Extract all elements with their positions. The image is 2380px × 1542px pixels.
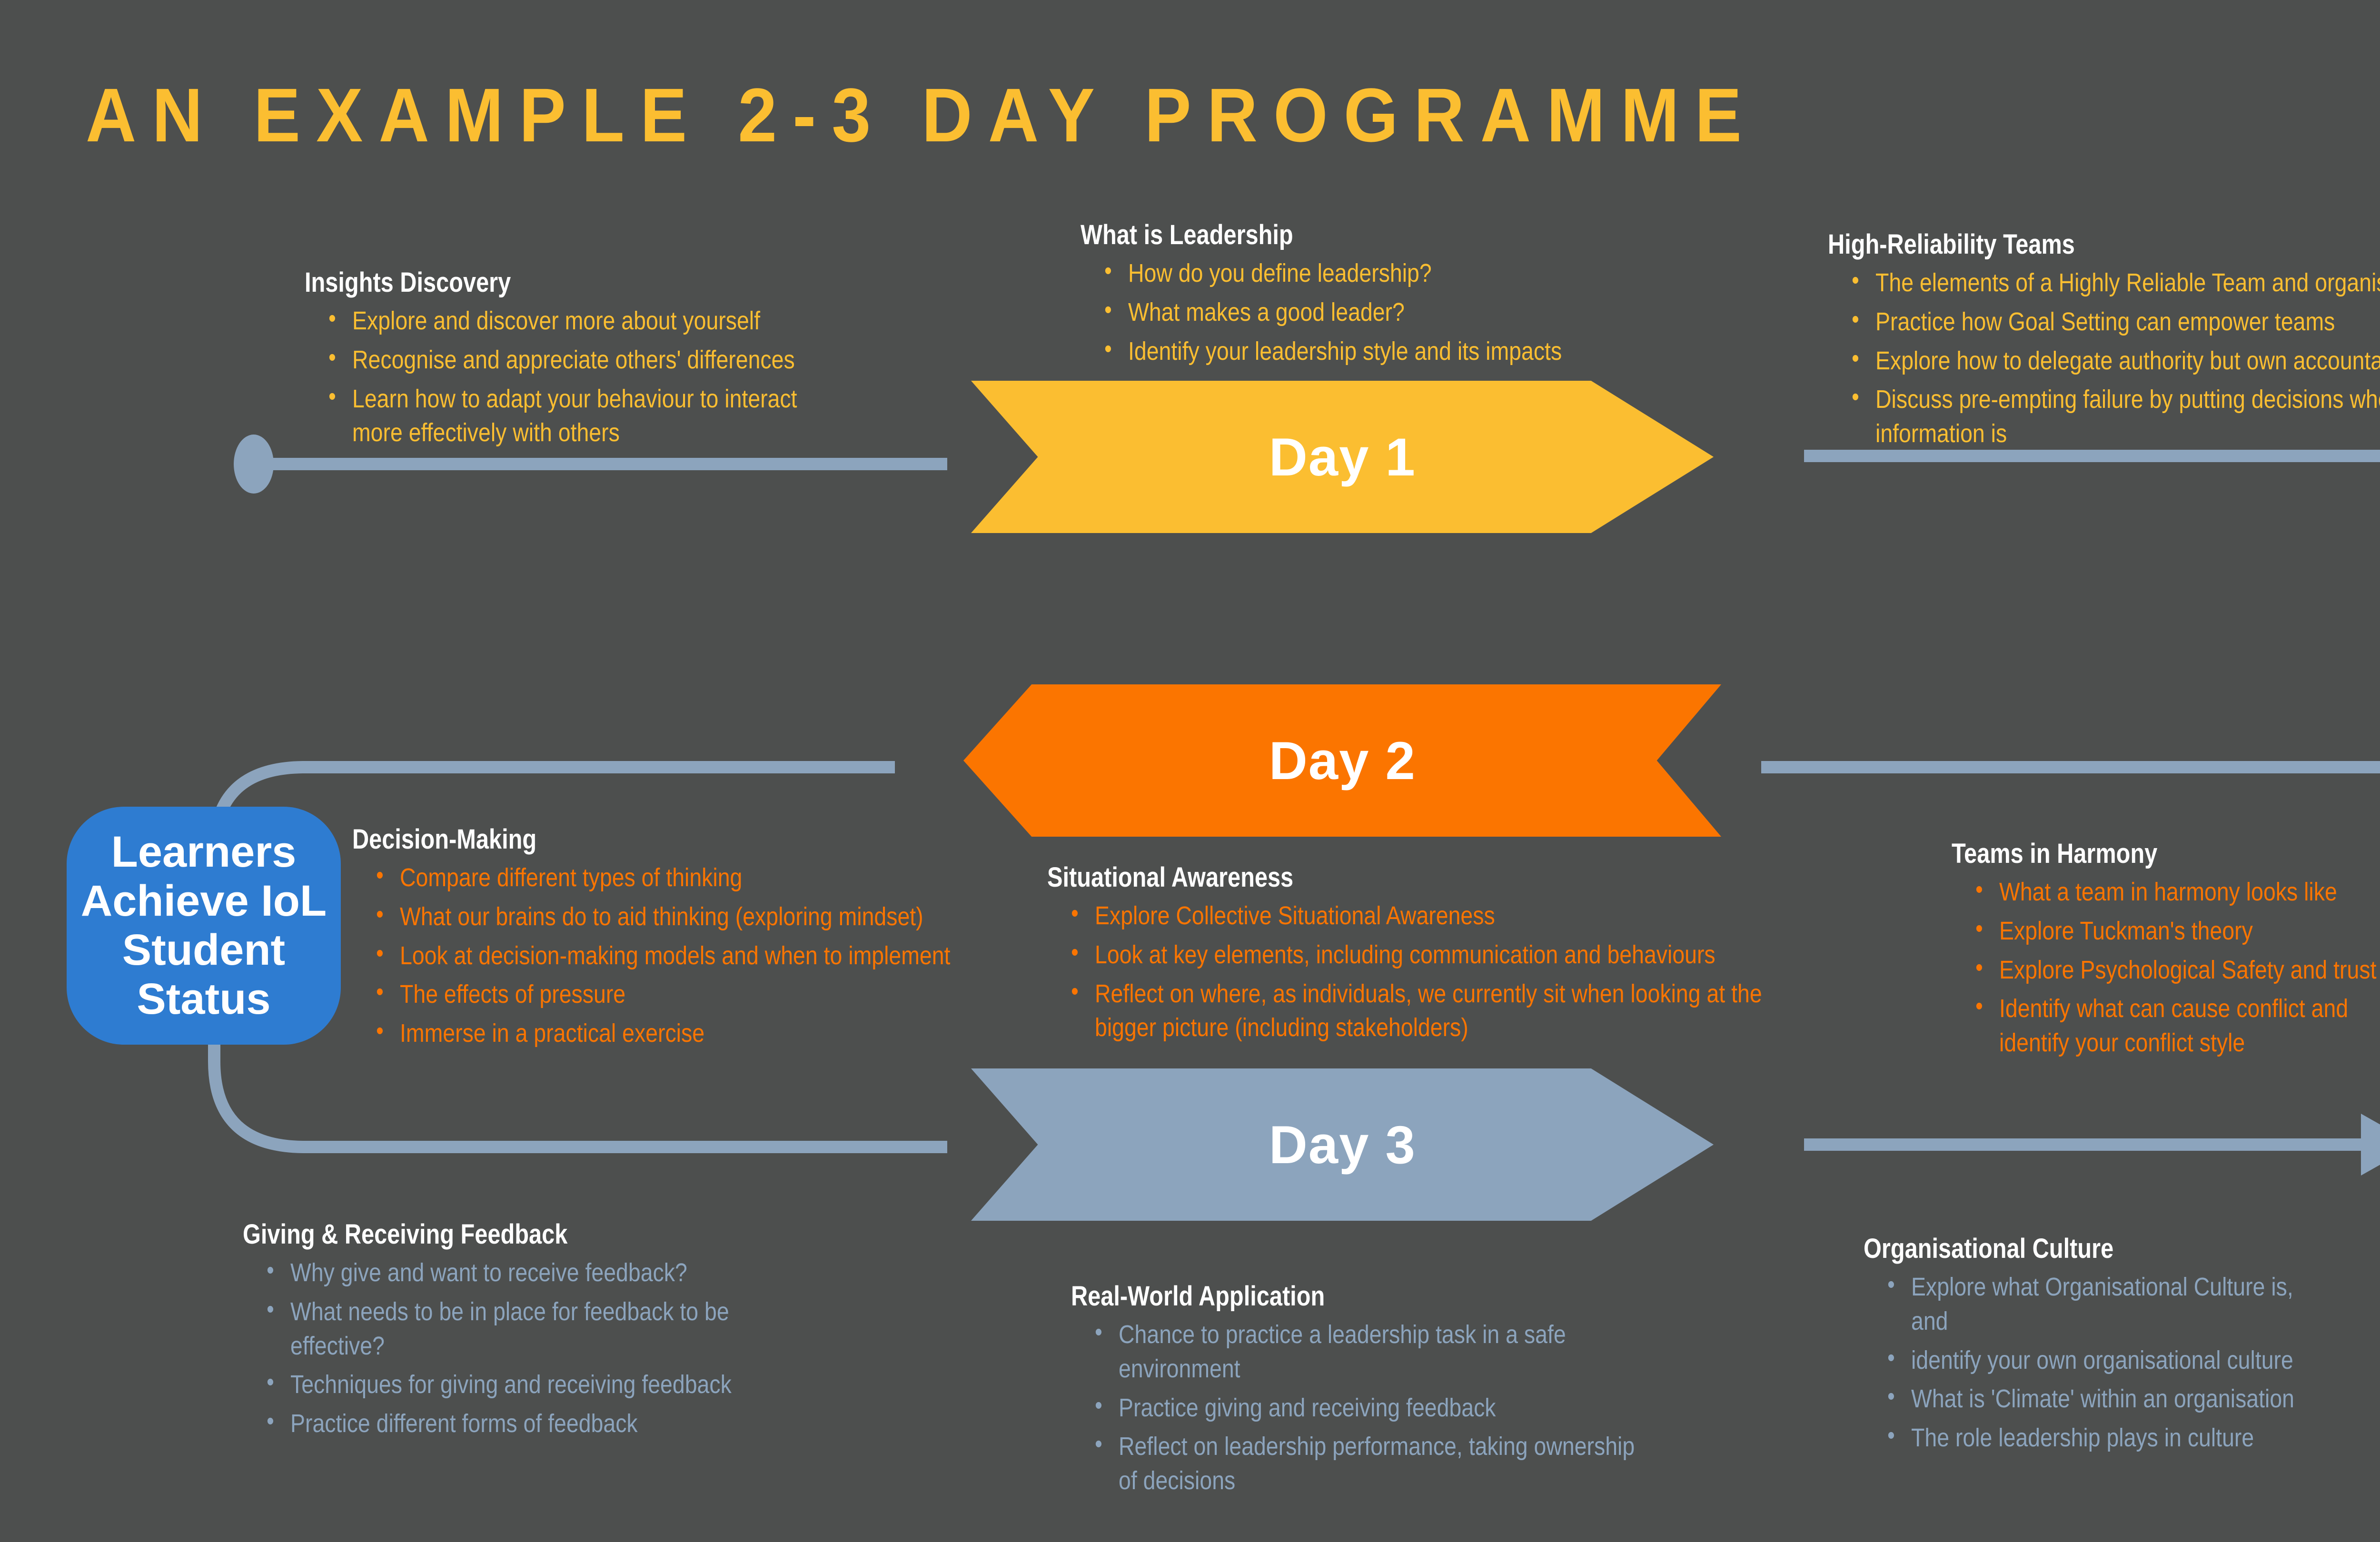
- topic-situational-awareness: Situational Awareness Explore Collective…: [1047, 861, 1899, 1050]
- topic-bullet-item: What is 'Climate' within an organisation: [1911, 1382, 2316, 1416]
- topic-what-is-leadership: What is Leadership How do you define lea…: [1081, 219, 1699, 373]
- topic-decision-making: Decision-Making Compare different types …: [352, 823, 1057, 1056]
- day-3-label: Day 3: [1269, 1114, 1416, 1176]
- wire-day1-to-day2: [1761, 456, 2380, 767]
- topic-bullet-item: Explore how to delegate authority but ow…: [1875, 344, 2380, 378]
- topic-bullet-item: Why give and want to receive feedback?: [290, 1256, 777, 1290]
- topic-heading: High-Reliability Teams: [1828, 228, 2380, 260]
- topic-teams-in-harmony: Teams in Harmony What a team in harmony …: [1952, 838, 2380, 1065]
- topic-heading: Giving & Receiving Feedback: [243, 1218, 759, 1250]
- topic-bullet-item: What makes a good leader?: [1128, 296, 1619, 330]
- day-1-label: Day 1: [1269, 426, 1416, 488]
- topic-bullets: How do you define leadership?What makes …: [1081, 257, 1699, 368]
- topic-bullet-item: Chance to practice a leadership task in …: [1119, 1318, 1651, 1386]
- topic-bullet-item: Practice giving and receiving feedback: [1119, 1391, 1651, 1425]
- page-title: AN EXAMPLE 2-3 DAY PROGRAMME: [86, 71, 1757, 159]
- arrowhead-icon: [2361, 1114, 2380, 1176]
- topic-bullets: The elements of a Highly Reliable Team a…: [1828, 266, 2380, 451]
- topic-high-reliability-teams: High-Reliability Teams The elements of a…: [1828, 228, 2380, 456]
- topic-bullets: What a team in harmony looks likeExplore…: [1952, 875, 2380, 1060]
- topic-bullets: Why give and want to receive feedback?Wh…: [243, 1256, 857, 1441]
- topic-bullet-item: Explore Collective Situational Awareness: [1095, 899, 1786, 933]
- topic-bullet-item: identify your own organisational culture: [1911, 1344, 2316, 1378]
- topic-heading: Situational Awareness: [1047, 861, 1763, 893]
- topic-real-world-application: Real-World Application Chance to practic…: [1071, 1280, 1737, 1503]
- topic-bullet-item: Discuss pre-empting failure by putting d…: [1875, 383, 2380, 451]
- day-2-band: Day 2: [963, 684, 1721, 837]
- topic-bullet-item: What a team in harmony looks like: [1999, 875, 2380, 909]
- day-3-band: Day 3: [971, 1068, 1714, 1221]
- day-1-band: Day 1: [971, 381, 1714, 533]
- topic-bullet-item: Explore and discover more about yourself: [352, 304, 835, 338]
- topic-heading: Insights Discovery: [305, 267, 816, 298]
- topic-bullet-item: Reflect on leadership performance, takin…: [1119, 1430, 1651, 1498]
- topic-heading: Real-World Application: [1071, 1280, 1631, 1312]
- topic-bullet-item: Compare different types of thinking: [400, 861, 965, 895]
- topic-bullet-item: Practice how Goal Setting can empower te…: [1875, 305, 2380, 339]
- topic-bullet-item: The elements of a Highly Reliable Team a…: [1875, 266, 2380, 300]
- topic-bullet-item: Look at decision-making models and when …: [400, 939, 965, 973]
- topic-bullet-item: How do you define leadership?: [1128, 257, 1619, 291]
- topic-bullet-item: What our brains do to aid thinking (expl…: [400, 900, 965, 934]
- topic-heading: What is Leadership: [1081, 219, 1600, 251]
- topic-bullet-item: Immerse in a practical exercise: [400, 1017, 965, 1051]
- day-2-label: Day 2: [1269, 730, 1416, 791]
- topic-bullet-item: Reflect on where, as individuals, we cur…: [1095, 977, 1786, 1046]
- topic-heading: Teams in Harmony: [1952, 838, 2380, 870]
- topic-bullet-item: Explore Tuckman's theory: [1999, 914, 2380, 949]
- topic-bullet-item: Identify your leadership style and its i…: [1128, 335, 1619, 369]
- topic-bullet-item: Practice different forms of feedback: [290, 1407, 777, 1441]
- topic-bullets: Explore Collective Situational Awareness…: [1047, 899, 1899, 1045]
- topic-bullet-item: Explore what Organisational Culture is, …: [1911, 1270, 2316, 1339]
- topic-giving-receiving-feedback: Giving & Receiving Feedback Why give and…: [243, 1218, 857, 1446]
- topic-heading: Organisational Culture: [1864, 1233, 2300, 1265]
- topic-bullets: Compare different types of thinkingWhat …: [352, 861, 1057, 1051]
- topic-bullet-item: Learn how to adapt your behaviour to int…: [352, 382, 835, 451]
- topic-bullet-item: Identify what can cause conflict and ide…: [1999, 992, 2380, 1060]
- topic-bullets: Explore and discover more about yourself…: [305, 304, 914, 450]
- topic-bullets: Chance to practice a leadership task in …: [1071, 1318, 1737, 1498]
- topic-bullet-item: Explore Psychological Safety and trust: [1999, 953, 2380, 988]
- topic-insights-discovery: Insights Discovery Explore and discover …: [305, 267, 914, 455]
- student-status-label: Learners Achieve IoL Student Status: [75, 828, 332, 1024]
- topic-bullet-item: The effects of pressure: [400, 978, 965, 1012]
- topic-bullet-item: The role leadership plays in culture: [1911, 1421, 2316, 1455]
- programme-diagram: AN EXAMPLE 2-3 DAY PROGRAMME Day 1 Day 2…: [0, 0, 2380, 1542]
- topic-bullet-item: What needs to be in place for feedback t…: [290, 1295, 777, 1364]
- topic-bullet-item: Look at key elements, including communic…: [1095, 938, 1786, 972]
- topic-organisational-culture: Organisational Culture Explore what Orga…: [1864, 1233, 2380, 1460]
- topic-bullet-item: Recognise and appreciate others' differe…: [352, 343, 835, 377]
- topic-bullet-item: Techniques for giving and receiving feed…: [290, 1368, 777, 1402]
- topic-bullets: Explore what Organisational Culture is, …: [1864, 1270, 2380, 1455]
- student-status-pill: Learners Achieve IoL Student Status: [67, 807, 341, 1045]
- topic-heading: Decision-Making: [352, 823, 944, 855]
